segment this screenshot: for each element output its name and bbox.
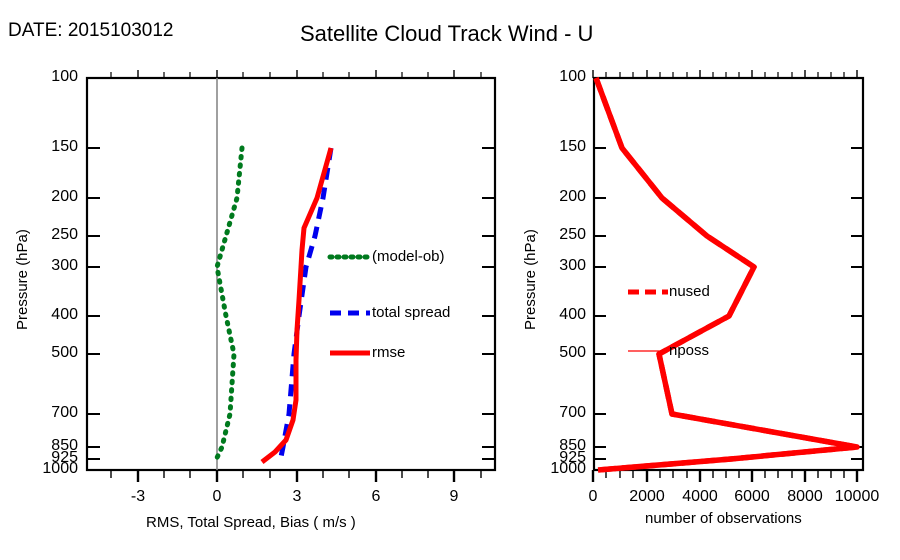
left-panel-xticks [111, 70, 481, 482]
right-legend [628, 292, 668, 351]
ytick-left-100: 100 [16, 68, 78, 86]
right-panel-frame [594, 78, 863, 470]
chart-canvas: DATE: 2015103012 Satellite Cloud Track W… [0, 0, 900, 560]
xtick-left-6: 6 [356, 488, 396, 506]
ytick-left-150: 150 [16, 138, 78, 156]
ytick-left-1000: 1000 [10, 460, 78, 478]
xtick-left-3: 3 [277, 488, 317, 506]
plot-svg [0, 0, 900, 560]
xtick-right-10000: 10000 [822, 488, 892, 506]
series-total-spread-line [280, 148, 331, 462]
xtick-left-9: 9 [434, 488, 474, 506]
ytick-right-500: 500 [524, 344, 586, 362]
right-yaxis-label: Pressure (hPa) [522, 229, 539, 330]
right-panel-xticks [593, 70, 857, 482]
series-nposs-line [596, 78, 857, 470]
series-nused-line [596, 78, 857, 470]
series-rmse-line [262, 148, 331, 462]
ytick-right-150: 150 [524, 138, 586, 156]
left-legend [330, 257, 370, 353]
ytick-right-100: 100 [524, 68, 586, 86]
ytick-right-700: 700 [524, 404, 586, 422]
ytick-left-500: 500 [16, 344, 78, 362]
ytick-right-200: 200 [524, 188, 586, 206]
right-panel-yticks [594, 78, 863, 470]
xtick-right-0: 0 [573, 488, 613, 506]
legend-label-nposs: nposs [669, 342, 709, 359]
series-bias-line [215, 148, 242, 462]
legend-label-bias: (model-ob) [372, 248, 445, 265]
ytick-left-200: 200 [16, 188, 78, 206]
ytick-right-1000: 1000 [518, 460, 586, 478]
legend-label-total-spread: total spread [372, 304, 450, 321]
legend-label-nused: nused [669, 283, 710, 300]
xtick-left-0: 0 [197, 488, 237, 506]
xtick-right-6000: 6000 [722, 488, 782, 506]
left-xaxis-label: RMS, Total Spread, Bias ( m/s ) [146, 514, 356, 531]
xtick-right-4000: 4000 [670, 488, 730, 506]
xtick-right-2000: 2000 [617, 488, 677, 506]
xtick-left-m3: -3 [118, 488, 158, 506]
legend-label-rmse: rmse [372, 344, 405, 361]
right-xaxis-label: number of observations [645, 510, 802, 527]
left-yaxis-label: Pressure (hPa) [14, 229, 31, 330]
ytick-left-700: 700 [16, 404, 78, 422]
